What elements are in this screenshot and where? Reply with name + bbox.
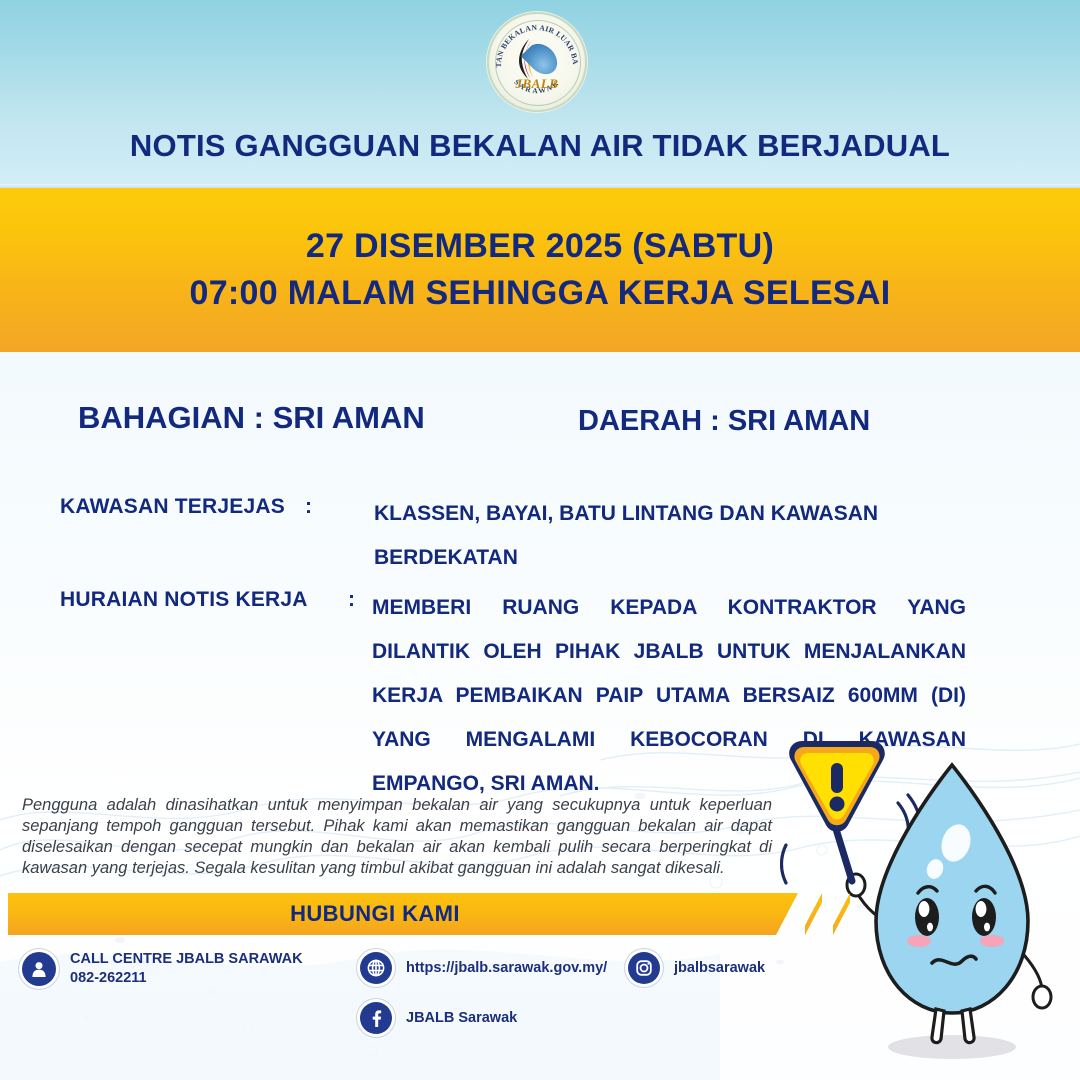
work-description-colon: :: [348, 588, 355, 612]
affected-area-value: KLASSEN, BAYAI, BATU LINTANG DAN KAWASAN…: [374, 492, 954, 580]
contact-banner: HUBUNGI KAMI: [8, 893, 798, 935]
banner-stripe-2: [833, 893, 850, 935]
jbalb-logo: JABATAN BEKALAN AIR LUAR BANDAR SARAWAK …: [487, 12, 587, 112]
contact-call-text: CALL CENTRE JBALB SARAWAK 082-262211: [70, 950, 303, 988]
facebook-icon: [360, 1002, 392, 1034]
notice-poster: JABATAN BEKALAN AIR LUAR BANDAR SARAWAK …: [0, 0, 1080, 1080]
contact-banner-wrapper: HUBUNGI KAMI: [0, 893, 880, 935]
facebook-name: JBALB Sarawak: [406, 1009, 517, 1028]
contact-call-centre[interactable]: CALL CENTRE JBALB SARAWAK 082-262211: [22, 950, 303, 988]
contact-website[interactable]: https://jbalb.sarawak.gov.my/: [360, 952, 607, 984]
globe-icon: [360, 952, 392, 984]
affected-area-colon: :: [305, 495, 312, 519]
division-label: BAHAGIAN : SRI AMAN: [78, 400, 425, 436]
date-line-1: 27 DISEMBER 2025 (SABTU): [306, 227, 774, 266]
call-centre-line2: 082-262211: [70, 969, 303, 988]
affected-area-label: KAWASAN TERJEJAS: [60, 495, 285, 519]
page-title: NOTIS GANGGUAN BEKALAN AIR TIDAK BERJADU…: [0, 128, 1080, 164]
region-row: BAHAGIAN : SRI AMAN DAERAH : SRI AMAN: [0, 400, 1080, 450]
contact-banner-title: HUBUNGI KAMI: [290, 901, 460, 927]
instagram-handle: jbalbsarawak: [674, 959, 765, 978]
advisory-paragraph: Pengguna adalah dinasihatkan untuk menyi…: [22, 795, 772, 879]
district-label: DAERAH : SRI AMAN: [578, 405, 870, 438]
date-banner: 27 DISEMBER 2025 (SABTU) 07:00 MALAM SEH…: [0, 188, 1080, 352]
person-icon: [22, 952, 56, 986]
warning-triangle-icon: [789, 741, 885, 832]
date-line-2: 07:00 MALAM SEHINGGA KERJA SELESAI: [189, 274, 890, 313]
contact-facebook[interactable]: JBALB Sarawak: [360, 1002, 517, 1034]
logo-center-label: JBALB: [489, 76, 585, 92]
website-url: https://jbalb.sarawak.gov.my/: [406, 959, 607, 978]
contact-instagram[interactable]: jbalbsarawak: [628, 952, 765, 984]
call-centre-line1: CALL CENTRE JBALB SARAWAK: [70, 951, 303, 967]
work-description-label: HURAIAN NOTIS KERJA: [60, 588, 308, 612]
instagram-icon: [628, 952, 660, 984]
banner-stripe-1: [805, 893, 822, 935]
